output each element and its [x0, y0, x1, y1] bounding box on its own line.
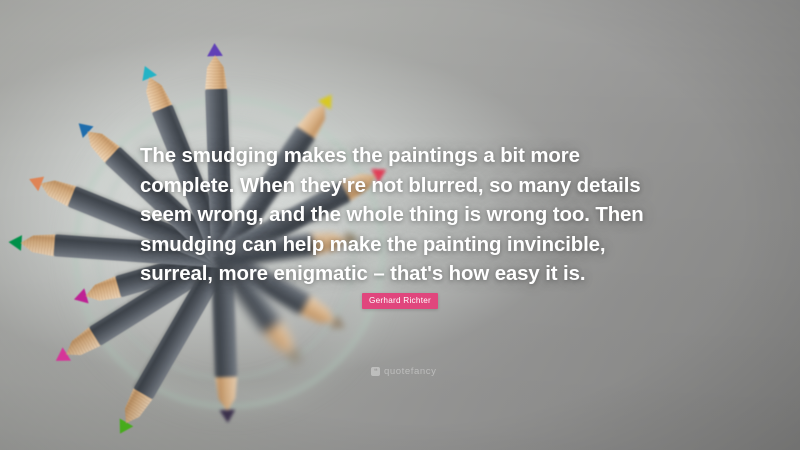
quote-text: The smudging makes the paintings a bit m…: [140, 142, 668, 290]
watermark-brand-label: quotefancy: [384, 366, 436, 377]
quote-poster: The smudging makes the paintings a bit m…: [0, 0, 800, 450]
author-attribution-badge: Gerhard Richter: [362, 293, 438, 309]
watermark: ❝ quotefancy: [371, 366, 436, 377]
quote-mark-icon: ❝: [371, 367, 380, 376]
